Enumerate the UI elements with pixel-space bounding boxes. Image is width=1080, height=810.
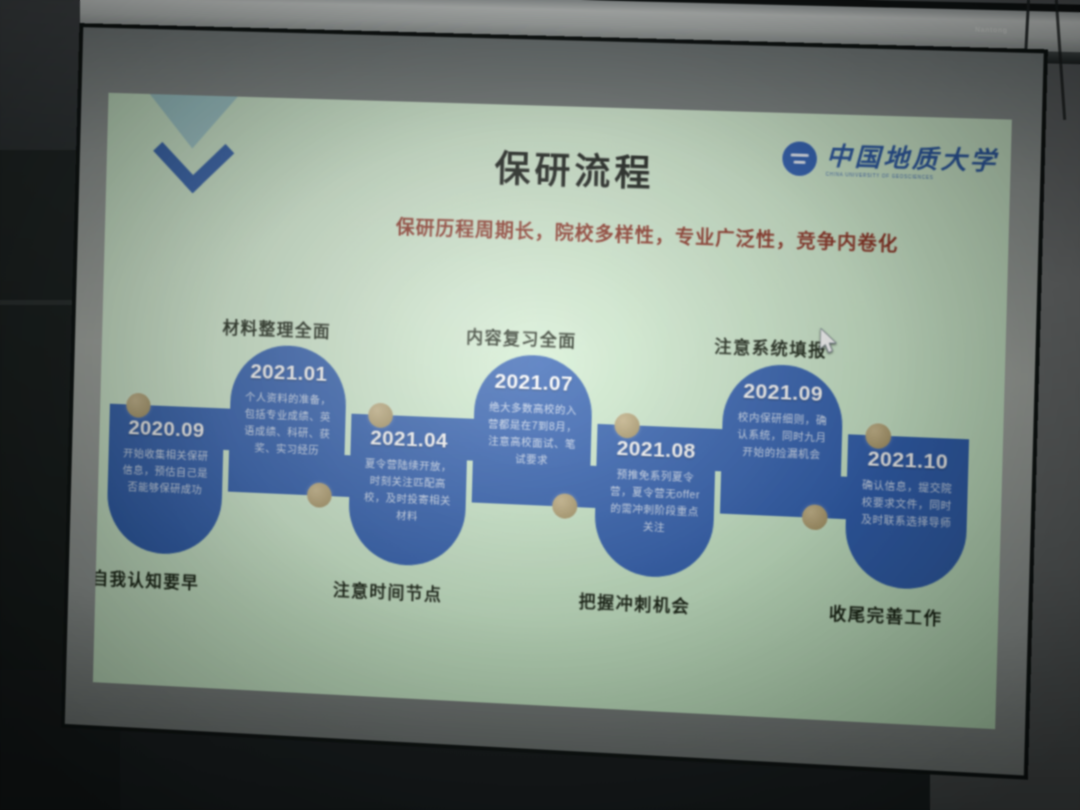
timeline-node-description: 夏令营陆续开放，时刻关注匹配高校，及时投寄相关材料 [358, 456, 457, 528]
timeline-milestone-dot [126, 393, 151, 419]
timeline-milestone-dot [801, 504, 827, 530]
timeline-milestone-dot [367, 402, 392, 428]
timeline-node[interactable]: 2021.08预推免系列夏令营，夏令营无offer的需冲刺阶段重点关注 [600, 316, 719, 320]
timeline-node[interactable]: 2021.04夏令营陆续开放，时刻关注匹配高校，及时投寄相关材料 [354, 307, 471, 311]
timeline-milestone-dot [551, 493, 577, 519]
logo-name: 中国地质大学 [826, 143, 999, 174]
timeline-node[interactable]: 2021.09校内保研细则，确认系统，同时九月开始的捡漏机会 [725, 320, 845, 324]
timeline-node-caption: 注意时间节点 [333, 576, 443, 606]
timeline-node-date: 2021.08 [597, 436, 716, 465]
slide-title: 保研流程 [494, 140, 655, 197]
timeline-node-date: 2021.10 [847, 446, 969, 475]
corner-chevron-icon [133, 93, 252, 178]
timeline-node-date: 2021.01 [231, 359, 347, 387]
timeline-node-date: 2021.04 [351, 426, 468, 455]
timeline-node-caption: 把握冲刺机会 [578, 587, 690, 617]
presentation-slide: 保研流程 中国地质大学 CHINA UNIVERSITY OF GEOSCIEN… [93, 93, 1012, 729]
university-logo: 中国地质大学 CHINA UNIVERSITY OF GEOSCIENCES [782, 141, 999, 182]
timeline-node-description: 个人资料的准备，包括专业成绩、英语成绩、科研、获奖、实习经历 [239, 389, 337, 460]
timeline-node[interactable]: 2020.09开始收集相关保研信息，预估自己是否能够保研成功 [113, 298, 227, 302]
timeline-milestone-dot [306, 482, 331, 508]
logo-mark-icon [782, 141, 817, 176]
photo-scene: Nantong 保研流程 中国地质大学 CHINA UNIVERSITY OF … [0, 0, 1080, 810]
timeline-node-description: 开始收集相关保研信息，预估自己是否能够保研成功 [117, 445, 213, 499]
timeline-node-caption: 收尾完善工作 [829, 599, 943, 630]
projector-brand-label: Nantong [975, 27, 1008, 35]
timeline-node[interactable]: 2021.01个人资料的准备，包括专业成绩、英语成绩、科研、获奖、实习经历 [233, 302, 348, 306]
timeline-node-date: 2021.09 [723, 379, 843, 408]
timeline-node-caption: 注意系统填报 [714, 332, 827, 362]
timeline-node[interactable]: 2021.07绝大多数高校的入营都是在7到8月，注意高校面试、笔试要求 [477, 311, 595, 315]
timeline-node-description: 确认信息，提交院校要求文件，同时及时联系选择导师 [856, 477, 958, 533]
timeline-diagram: 2020.09开始收集相关保研信息，预估自己是否能够保研成功自我认知要早2021… [94, 297, 1006, 666]
timeline-node-description: 预推免系列夏令营，夏令营无offer的需冲刺阶段重点关注 [605, 466, 705, 539]
slide-subtitle: 保研历程周期长，院校多样性，专业广泛性，竞争内卷化 [327, 210, 971, 259]
projection-screen: 保研流程 中国地质大学 CHINA UNIVERSITY OF GEOSCIEN… [60, 23, 1048, 810]
timeline-node-description: 校内保研细则，确认系统，同时九月开始的捡漏机会 [732, 409, 833, 465]
timeline-node-date: 2021.07 [475, 369, 593, 398]
timeline-node-caption: 内容复习全面 [466, 323, 577, 352]
timeline-node-caption: 自我认知要早 [93, 564, 200, 594]
timeline-node-date: 2020.09 [109, 415, 224, 443]
timeline-node-description: 绝大多数高校的入营都是在7到8月，注意高校面试、笔试要求 [483, 399, 582, 471]
timeline-node[interactable]: 2021.10确认信息，提交院校要求文件，同时及时联系选择导师 [851, 325, 972, 330]
timeline-node-caption: 材料整理全面 [222, 314, 331, 343]
